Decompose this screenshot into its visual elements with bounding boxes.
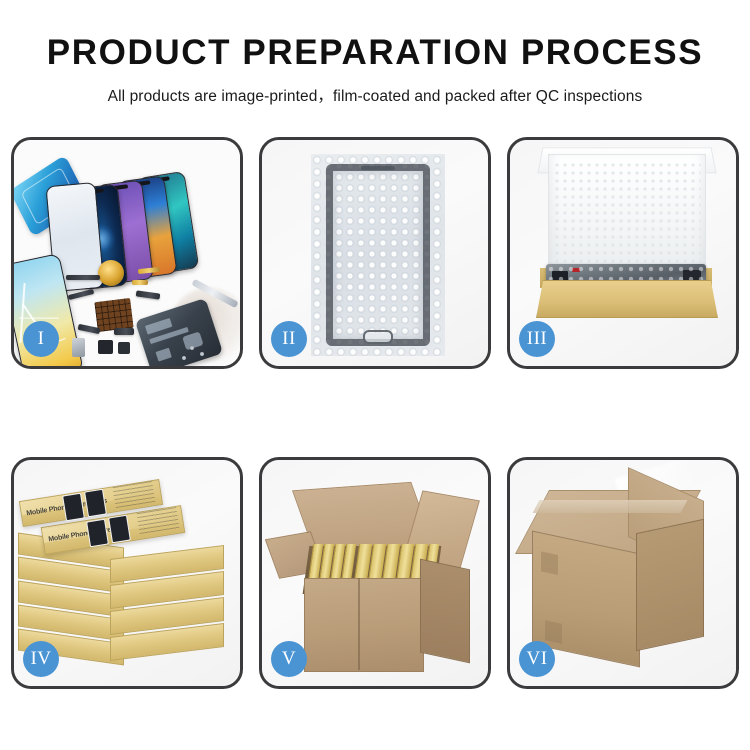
sealed-carton-right [636, 519, 704, 651]
step-image-2: II [262, 140, 488, 366]
box-thumb-2a [86, 519, 109, 548]
flex-cable-1 [66, 275, 100, 280]
chip-array-part [94, 298, 133, 332]
black-component-1 [98, 340, 113, 354]
gold-coil-part [98, 260, 124, 286]
page-header: PRODUCT PREPARATION PROCESS All products… [0, 0, 750, 106]
step-badge-3: III [519, 321, 555, 357]
earpiece-slot [361, 166, 395, 170]
step-panel-4: Mobile Phone Spare Parts Mobile Phone Sp… [11, 457, 243, 689]
page-title: PRODUCT PREPARATION PROCESS [0, 34, 750, 73]
box-thumb-2b [108, 515, 131, 544]
step-panel-2: II [259, 137, 491, 369]
box-thumb-1a [62, 493, 85, 522]
wrapped-screen [326, 164, 430, 346]
flex-cable-3 [114, 328, 134, 335]
screw-2 [200, 352, 204, 356]
step-panel-6: VI [507, 457, 739, 689]
screen-chip [552, 271, 568, 281]
gold-contact-strip-2 [132, 280, 148, 285]
screw-3 [182, 356, 186, 360]
step-image-6: VI [510, 460, 736, 686]
step-badge-4: IV [23, 641, 59, 677]
black-component-2 [118, 342, 130, 354]
screen-red-mark [572, 268, 580, 272]
carton-side-face [420, 559, 470, 664]
step-badge-5: V [271, 641, 307, 677]
box-thumb-1b [84, 489, 107, 518]
home-button [363, 330, 393, 344]
carton-patch-2 [545, 620, 562, 644]
screw-1 [190, 346, 194, 350]
step-image-5: V [262, 460, 488, 686]
box-tray-front [536, 280, 718, 318]
step-image-1: I [14, 140, 240, 366]
step-panel-5: V [259, 457, 491, 689]
process-steps-grid: I II III [11, 137, 739, 689]
step-panel-3: III [507, 137, 739, 369]
step-panel-1: I [11, 137, 243, 369]
step-badge-1: I [23, 321, 59, 357]
step-badge-2: II [271, 321, 307, 357]
carton-tape [533, 500, 688, 513]
step-image-3: III [510, 140, 736, 366]
carton-patch-1 [541, 551, 558, 575]
page-subtitle: All products are image-printed，film-coat… [0, 84, 750, 106]
carton-seam [358, 578, 360, 670]
step-image-4: Mobile Phone Spare Parts Mobile Phone Sp… [14, 460, 240, 686]
step-badge-6: VI [519, 641, 555, 677]
small-metal-part [72, 338, 85, 357]
carton-front-face [304, 578, 424, 672]
foam-padding [548, 154, 706, 280]
